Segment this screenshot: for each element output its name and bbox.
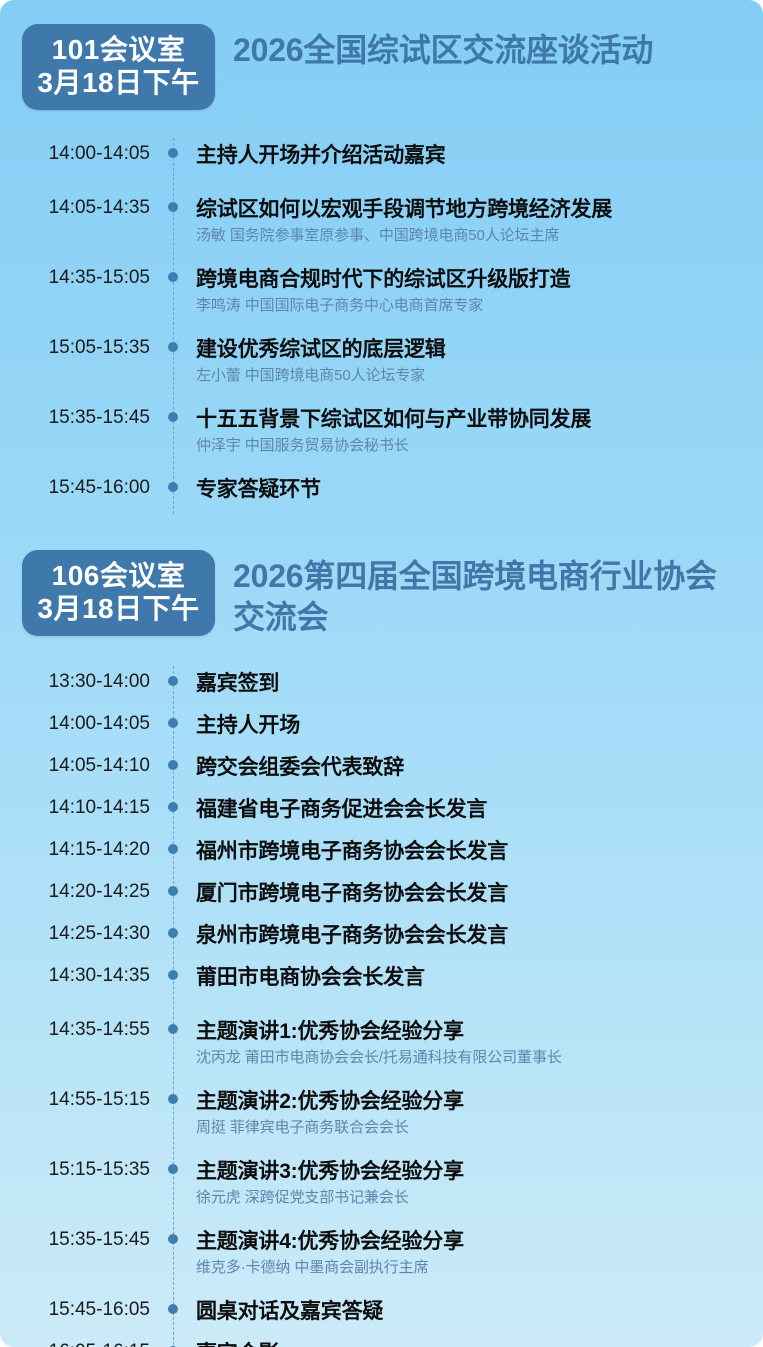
agenda-speaker: 徐元虎 深跨促党支部书记兼会长 <box>196 1189 745 1207</box>
agenda-title: 主题演讲4:优秀协会经验分享 <box>196 1230 745 1255</box>
agenda-body: 嘉宾签到 <box>196 672 745 697</box>
agenda-row: 14:05-14:35 综试区如何以宏观手段调节地方跨境经济发展 汤敏 国务院参… <box>0 198 763 256</box>
agenda-title: 福建省电子商务促进会会长发言 <box>196 798 745 823</box>
agenda-row: 15:05-15:35 建设优秀综试区的底层逻辑 左小蕾 中国跨境电商50人论坛… <box>0 338 763 396</box>
agenda-speaker: 李鸣涛 中国国际电子商务中心电商首席专家 <box>196 297 745 315</box>
agenda-body: 十五五背景下综试区如何与产业带协同发展 仲泽宇 中国服务贸易协会秘书长 <box>196 408 745 455</box>
agenda-speaker: 周挺 菲律宾电子商务联合会会长 <box>196 1119 745 1137</box>
agenda-body: 主题演讲2:优秀协会经验分享 周挺 菲律宾电子商务联合会会长 <box>196 1090 745 1137</box>
timeline-dot-icon <box>150 1090 196 1104</box>
agenda-body: 主持人开场 <box>196 714 745 739</box>
agenda-time: 14:30-14:35 <box>0 966 150 987</box>
timeline-dot-icon <box>150 924 196 938</box>
agenda-title: 莆田市电商协会会长发言 <box>196 966 745 991</box>
timeline-dot-icon <box>150 798 196 812</box>
agenda-title: 跨交会组委会代表致辞 <box>196 756 745 781</box>
agenda-row: 14:00-14:05 主持人开场并介绍活动嘉宾 <box>0 144 763 186</box>
agenda-time: 14:55-15:15 <box>0 1090 150 1111</box>
room-badge-date-label: 3月18日下午 <box>28 592 209 625</box>
agenda-title: 主持人开场并介绍活动嘉宾 <box>196 144 745 169</box>
agenda-title: 主题演讲1:优秀协会经验分享 <box>196 1020 745 1045</box>
agenda-time: 14:05-14:10 <box>0 756 150 777</box>
agenda-row: 15:35-15:45 主题演讲4:优秀协会经验分享 维克多·卡德纳 中墨商会副… <box>0 1230 763 1288</box>
agenda-row: 15:15-15:35 主题演讲3:优秀协会经验分享 徐元虎 深跨促党支部书记兼… <box>0 1160 763 1218</box>
agenda-speaker: 仲泽宇 中国服务贸易协会秘书长 <box>196 437 745 455</box>
agenda-body: 泉州市跨境电子商务协会会长发言 <box>196 924 745 949</box>
agenda-title: 圆桌对话及嘉宾答疑 <box>196 1300 745 1325</box>
agenda-row: 14:10-14:15 福建省电子商务促进会会长发言 <box>0 798 763 840</box>
timeline-dot-icon <box>150 198 196 212</box>
room-badge-room-label: 106会议室 <box>28 559 209 592</box>
agenda-time: 15:35-15:45 <box>0 1230 150 1251</box>
agenda-time: 14:20-14:25 <box>0 882 150 903</box>
agenda-time: 14:15-14:20 <box>0 840 150 861</box>
agenda-body: 莆田市电商协会会长发言 <box>196 966 745 991</box>
agenda-speaker: 汤敏 国务院参事室原参事、中国跨境电商50人论坛主席 <box>196 227 745 245</box>
room-badge-room-label: 101会议室 <box>28 33 209 66</box>
agenda-row: 14:00-14:05 主持人开场 <box>0 714 763 756</box>
timeline-dot-icon <box>150 714 196 728</box>
timeline-dot-icon <box>150 882 196 896</box>
timeline-dot-icon <box>150 1160 196 1174</box>
section-header-106: 106会议室 3月18日下午 2026第四届全国跨境电商行业协会交流会 <box>0 550 763 638</box>
section-title-106: 2026第四届全国跨境电商行业协会交流会 <box>233 550 745 638</box>
timeline-dot-icon <box>150 1230 196 1244</box>
agenda-time: 14:35-15:05 <box>0 268 150 289</box>
agenda-body: 主题演讲1:优秀协会经验分享 沈丙龙 莆田市电商协会会长/托易通科技有限公司董事… <box>196 1020 745 1067</box>
timeline-dot-icon <box>150 408 196 422</box>
timeline-dot-icon <box>150 756 196 770</box>
agenda-time: 15:45-16:05 <box>0 1300 150 1321</box>
timeline-dot-icon <box>150 672 196 686</box>
agenda-time: 15:45-16:00 <box>0 478 150 499</box>
agenda-body: 福建省电子商务促进会会长发言 <box>196 798 745 823</box>
agenda-row: 14:55-15:15 主题演讲2:优秀协会经验分享 周挺 菲律宾电子商务联合会… <box>0 1090 763 1148</box>
room-badge-date-label: 3月18日下午 <box>28 66 209 99</box>
agenda-title: 专家答疑环节 <box>196 478 745 503</box>
agenda-body: 建设优秀综试区的底层逻辑 左小蕾 中国跨境电商50人论坛专家 <box>196 338 745 385</box>
agenda-title: 建设优秀综试区的底层逻辑 <box>196 338 745 363</box>
agenda-row: 14:35-14:55 主题演讲1:优秀协会经验分享 沈丙龙 莆田市电商协会会长… <box>0 1020 763 1078</box>
agenda-row: 14:35-15:05 跨境电商合规时代下的综试区升级版打造 李鸣涛 中国国际电… <box>0 268 763 326</box>
agenda-time: 14:00-14:05 <box>0 144 150 165</box>
agenda-body: 专家答疑环节 <box>196 478 745 503</box>
agenda-title: 嘉宾合影 <box>196 1342 745 1347</box>
agenda-title: 十五五背景下综试区如何与产业带协同发展 <box>196 408 745 433</box>
agenda-body: 圆桌对话及嘉宾答疑 <box>196 1300 745 1325</box>
agenda-body: 厦门市跨境电子商务协会会长发言 <box>196 882 745 907</box>
agenda-title: 福州市跨境电子商务协会会长发言 <box>196 840 745 865</box>
agenda-title: 主题演讲3:优秀协会经验分享 <box>196 1160 745 1185</box>
agenda-body: 主持人开场并介绍活动嘉宾 <box>196 144 745 169</box>
agenda-row: 14:20-14:25 厦门市跨境电子商务协会会长发言 <box>0 882 763 924</box>
timeline-dot-icon <box>150 1020 196 1034</box>
agenda-body: 跨境电商合规时代下的综试区升级版打造 李鸣涛 中国国际电子商务中心电商首席专家 <box>196 268 745 315</box>
timeline-106: 13:30-14:00 嘉宾签到 14:00-14:05 主持人开场 14:05… <box>0 658 763 1347</box>
room-badge-106: 106会议室 3月18日下午 <box>22 550 215 636</box>
agenda-title: 主题演讲2:优秀协会经验分享 <box>196 1090 745 1115</box>
agenda-title: 主持人开场 <box>196 714 745 739</box>
conference-agenda-poster: 101会议室 3月18日下午 2026全国综试区交流座谈活动 14:00-14:… <box>0 0 763 1347</box>
agenda-row: 15:45-16:05 圆桌对话及嘉宾答疑 <box>0 1300 763 1342</box>
agenda-time: 14:05-14:35 <box>0 198 150 219</box>
agenda-row: 15:35-15:45 十五五背景下综试区如何与产业带协同发展 仲泽宇 中国服务… <box>0 408 763 466</box>
agenda-body: 福州市跨境电子商务协会会长发言 <box>196 840 745 865</box>
agenda-body: 主题演讲4:优秀协会经验分享 维克多·卡德纳 中墨商会副执行主席 <box>196 1230 745 1277</box>
agenda-time: 14:10-14:15 <box>0 798 150 819</box>
agenda-time: 13:30-14:00 <box>0 672 150 693</box>
agenda-time: 15:15-15:35 <box>0 1160 150 1181</box>
agenda-speaker: 沈丙龙 莆田市电商协会会长/托易通科技有限公司董事长 <box>196 1049 745 1067</box>
timeline-dot-icon <box>150 144 196 158</box>
agenda-row: 14:15-14:20 福州市跨境电子商务协会会长发言 <box>0 840 763 882</box>
agenda-row: 14:05-14:10 跨交会组委会代表致辞 <box>0 756 763 798</box>
agenda-time: 16:05-16:15 <box>0 1342 150 1347</box>
agenda-row: 14:25-14:30 泉州市跨境电子商务协会会长发言 <box>0 924 763 966</box>
agenda-title: 嘉宾签到 <box>196 672 745 697</box>
room-badge-101: 101会议室 3月18日下午 <box>22 24 215 110</box>
agenda-time: 14:25-14:30 <box>0 924 150 945</box>
agenda-body: 嘉宾合影 <box>196 1342 745 1347</box>
agenda-row: 16:05-16:15 嘉宾合影 <box>0 1342 763 1347</box>
top-spacer <box>0 0 763 24</box>
agenda-body: 综试区如何以宏观手段调节地方跨境经济发展 汤敏 国务院参事室原参事、中国跨境电商… <box>196 198 745 245</box>
timeline-101: 14:00-14:05 主持人开场并介绍活动嘉宾 14:05-14:35 综试区… <box>0 130 763 520</box>
agenda-body: 跨交会组委会代表致辞 <box>196 756 745 781</box>
header-spacer-1 <box>0 110 763 130</box>
agenda-title: 厦门市跨境电子商务协会会长发言 <box>196 882 745 907</box>
section-title-101: 2026全国综试区交流座谈活动 <box>233 24 745 71</box>
timeline-dot-icon <box>150 966 196 980</box>
timeline-dot-icon <box>150 268 196 282</box>
agenda-title: 泉州市跨境电子商务协会会长发言 <box>196 924 745 949</box>
agenda-title: 综试区如何以宏观手段调节地方跨境经济发展 <box>196 198 745 223</box>
agenda-time: 14:35-14:55 <box>0 1020 150 1041</box>
agenda-row: 14:30-14:35 莆田市电商协会会长发言 <box>0 966 763 1008</box>
timeline-dot-icon <box>150 840 196 854</box>
agenda-speaker: 维克多·卡德纳 中墨商会副执行主席 <box>196 1259 745 1277</box>
agenda-row: 13:30-14:00 嘉宾签到 <box>0 672 763 714</box>
agenda-speaker: 左小蕾 中国跨境电商50人论坛专家 <box>196 367 745 385</box>
agenda-title: 跨境电商合规时代下的综试区升级版打造 <box>196 268 745 293</box>
agenda-row: 15:45-16:00 专家答疑环节 <box>0 478 763 520</box>
agenda-time: 14:00-14:05 <box>0 714 150 735</box>
agenda-body: 主题演讲3:优秀协会经验分享 徐元虎 深跨促党支部书记兼会长 <box>196 1160 745 1207</box>
header-spacer-2 <box>0 638 763 658</box>
agenda-time: 15:05-15:35 <box>0 338 150 359</box>
timeline-dot-icon <box>150 478 196 492</box>
agenda-time: 15:35-15:45 <box>0 408 150 429</box>
section-spacer <box>0 520 763 550</box>
section-header-101: 101会议室 3月18日下午 2026全国综试区交流座谈活动 <box>0 24 763 110</box>
timeline-dot-icon <box>150 1342 196 1347</box>
timeline-dot-icon <box>150 338 196 352</box>
timeline-dot-icon <box>150 1300 196 1314</box>
